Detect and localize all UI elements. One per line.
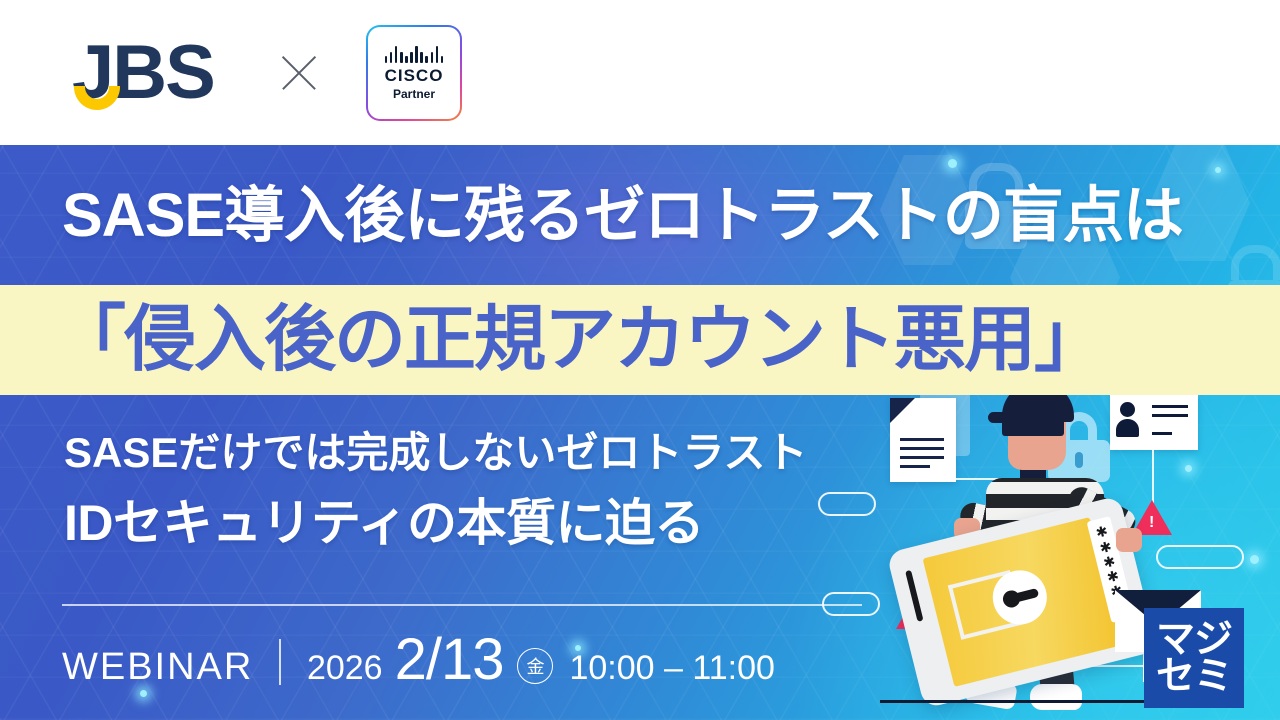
magisemi-text-line-2: セミ <box>1156 658 1232 695</box>
webinar-year: 2026 <box>307 649 383 688</box>
thief-right-hand <box>1116 528 1142 552</box>
webinar-weekday-badge: 金 <box>517 648 553 684</box>
decorative-pill <box>1156 545 1244 569</box>
document-icon <box>890 398 956 482</box>
subtitle-line-2: IDセキュリティの本質に迫る <box>64 498 704 548</box>
webinar-schedule: WEBINAR 2026 2/13 金 10:00 – 11:00 <box>62 626 775 693</box>
jbs-logo: JBS <box>72 30 232 116</box>
footer-divider <box>62 604 862 606</box>
webinar-label: WEBINAR <box>62 646 253 689</box>
glow-dot <box>948 159 957 168</box>
cisco-partner-label: Partner <box>393 88 435 100</box>
hacker-illustration: ✱✱✱✱✱✱ マジ セミ <box>860 370 1280 720</box>
subtitle-line-1: SASEだけでは完成しないゼロトラスト <box>64 432 808 474</box>
thief-right-shoe <box>1030 684 1082 710</box>
magisemi-text-line-1: マジ <box>1156 621 1232 658</box>
x-separator-icon <box>276 50 322 96</box>
highlight-band: 「侵入後の正規アカウント悪用」 <box>0 285 1280 395</box>
logo-header: JBS CISCO Partner <box>0 0 1280 145</box>
footer-separator <box>279 639 281 685</box>
magisemi-badge: マジ セミ <box>1144 608 1244 708</box>
cisco-bars-icon <box>385 46 444 63</box>
decorative-pill <box>818 492 876 516</box>
cisco-partner-badge: CISCO Partner <box>366 25 462 121</box>
glow-dot <box>1215 167 1221 173</box>
headline-highlight: 「侵入後の正規アカウント悪用」 <box>54 304 1104 376</box>
webinar-date: 2/13 <box>395 626 504 693</box>
magisemi-logo: マジ セミ <box>1115 590 1245 710</box>
headline-line-1: SASE導入後に残るゼロトラストの盲点は <box>62 185 1183 246</box>
logo-row: JBS CISCO Partner <box>72 25 462 121</box>
cisco-wordmark: CISCO <box>385 67 444 84</box>
webinar-time: 10:00 – 11:00 <box>569 649 774 688</box>
webinar-banner: JBS CISCO Partner <box>0 0 1280 720</box>
